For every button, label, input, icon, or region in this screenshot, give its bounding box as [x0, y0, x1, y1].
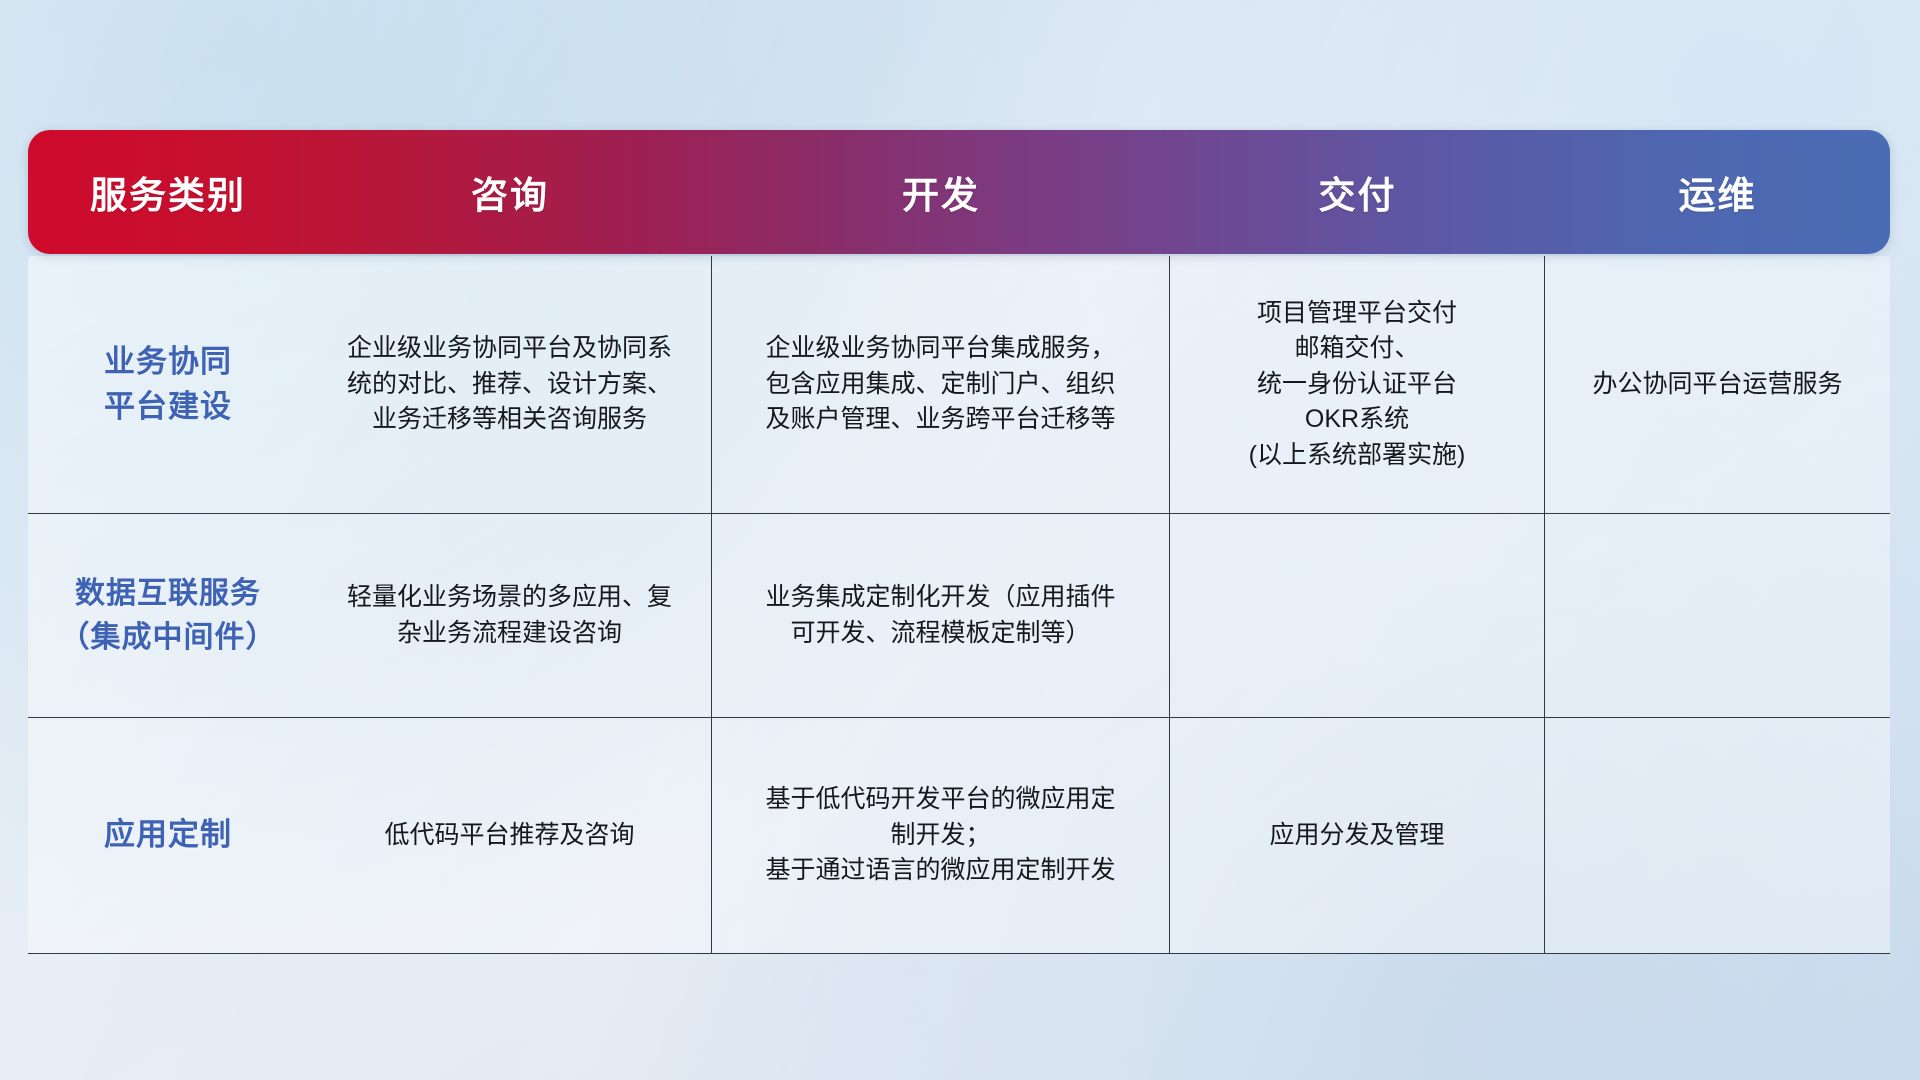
cell-operations-row2 — [1545, 514, 1890, 717]
table-row: 数据互联服务 （集成中间件） 轻量化业务场景的多应用、复 杂业务流程建设咨询 业… — [28, 514, 1890, 718]
row-category-data-interconnection-service: 数据互联服务 （集成中间件） — [28, 514, 308, 717]
table-body: 业务协同 平台建设 企业级业务协同平台及协同系 统的对比、推荐、设计方案、 业务… — [28, 256, 1890, 954]
column-header-development: 开发 — [712, 165, 1170, 219]
cell-development-row2: 业务集成定制化开发（应用插件 可开发、流程模板定制等） — [712, 514, 1170, 717]
column-header-consulting: 咨询 — [308, 165, 712, 219]
cell-delivery-row2 — [1170, 514, 1545, 717]
table-row: 业务协同 平台建设 企业级业务协同平台及协同系 统的对比、推荐、设计方案、 业务… — [28, 256, 1890, 514]
cell-delivery-row3: 应用分发及管理 — [1170, 718, 1545, 953]
cell-operations-row3 — [1545, 718, 1890, 953]
row-category-application-customization: 应用定制 — [28, 718, 308, 953]
cell-consulting-row2: 轻量化业务场景的多应用、复 杂业务流程建设咨询 — [308, 514, 712, 717]
column-header-delivery: 交付 — [1170, 165, 1545, 219]
slide-canvas: 服务类别 咨询 开发 交付 运维 业务协同 平台建设 企业级业务协同平台及协同系… — [0, 0, 1920, 1080]
column-header-service-category: 服务类别 — [28, 165, 308, 219]
cell-delivery-row1: 项目管理平台交付 邮箱交付、 统一身份认证平台 OKR系统 (以上系统部署实施) — [1170, 256, 1545, 513]
table-row: 应用定制 低代码平台推荐及咨询 基于低代码开发平台的微应用定 制开发； 基于通过… — [28, 718, 1890, 954]
row-category-business-collaboration-platform: 业务协同 平台建设 — [28, 256, 308, 513]
cell-consulting-row1: 企业级业务协同平台及协同系 统的对比、推荐、设计方案、 业务迁移等相关咨询服务 — [308, 256, 712, 513]
cell-development-row3: 基于低代码开发平台的微应用定 制开发； 基于通过语言的微应用定制开发 — [712, 718, 1170, 953]
cell-consulting-row3: 低代码平台推荐及咨询 — [308, 718, 712, 953]
cell-operations-row1: 办公协同平台运营服务 — [1545, 256, 1890, 513]
cell-development-row1: 企业级业务协同平台集成服务， 包含应用集成、定制门户、组织 及账户管理、业务跨平… — [712, 256, 1170, 513]
service-matrix-table: 服务类别 咨询 开发 交付 运维 业务协同 平台建设 企业级业务协同平台及协同系… — [28, 130, 1890, 954]
column-header-operations: 运维 — [1545, 165, 1890, 219]
table-header-row: 服务类别 咨询 开发 交付 运维 — [28, 130, 1890, 254]
